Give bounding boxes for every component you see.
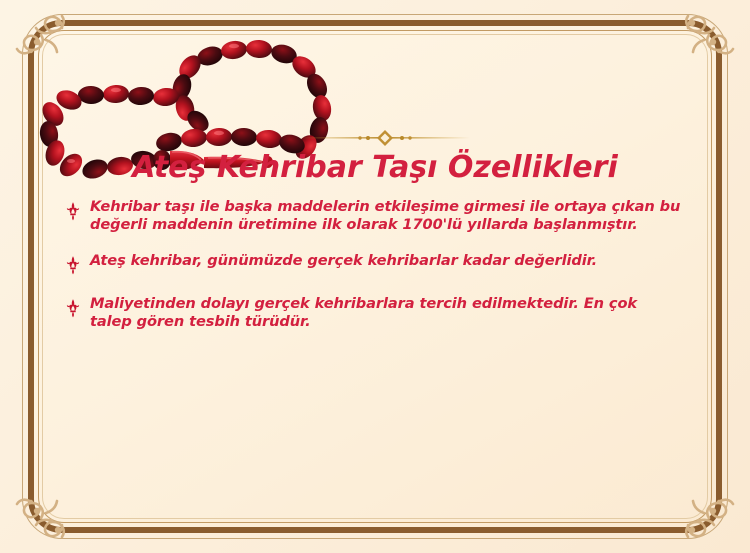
fleur-de-lis-icon (62, 297, 84, 319)
page-title: Ateş Kehribar Taşı Özellikleri (60, 150, 690, 185)
list-item-text: Ateş kehribar, günümüzde gerçek kehribar… (90, 252, 597, 270)
certificate-poster: Ateş Kehribar Taşı Özellikleri Kehribar … (0, 0, 750, 553)
features-list: Kehribar taşı ile başka maddelerin etkil… (62, 198, 682, 349)
list-item: Maliyetinden dolayı gerçek kehribarlara … (62, 295, 682, 330)
fleur-de-lis-icon (62, 200, 84, 222)
list-item-text: Maliyetinden dolayı gerçek kehribarlara … (90, 295, 682, 330)
list-item: Kehribar taşı ile başka maddelerin etkil… (62, 198, 682, 233)
list-item-text: Kehribar taşı ile başka maddelerin etkil… (90, 198, 682, 233)
list-item: Ateş kehribar, günümüzde gerçek kehribar… (62, 252, 682, 276)
fleur-de-lis-icon (62, 254, 84, 276)
